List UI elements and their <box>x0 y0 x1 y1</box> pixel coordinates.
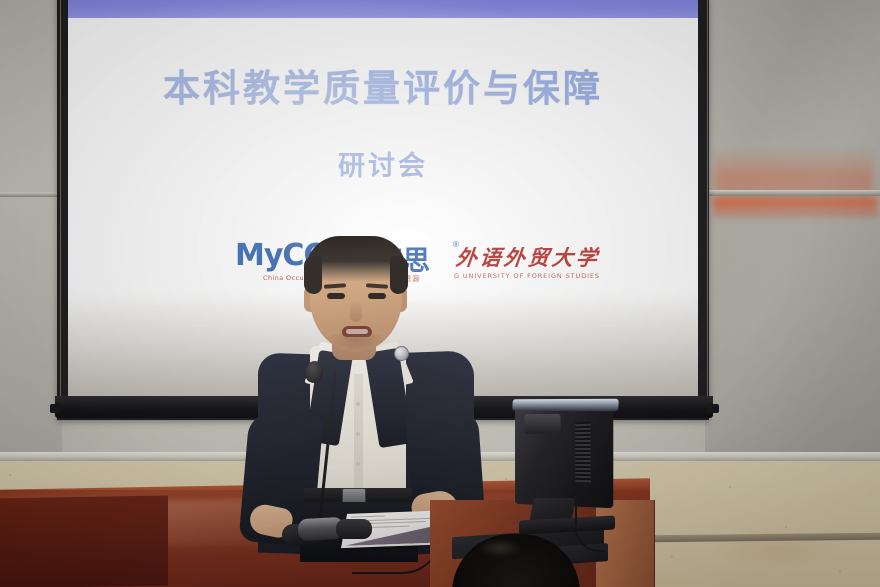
slide-subtitle: 研讨会 <box>68 144 698 183</box>
computer-monitor[interactable] <box>505 398 625 528</box>
desk-left-panel <box>0 495 168 587</box>
monitor-top-edge <box>512 399 619 412</box>
shirt-button <box>356 402 360 406</box>
slide-title: 本科教学质量评价与保障 <box>68 58 698 112</box>
shirt-button <box>356 462 360 466</box>
nose <box>350 300 362 322</box>
monitor-rear-housing <box>524 414 561 434</box>
audience-hair-highlight <box>478 540 522 556</box>
lapel-pin-badge <box>394 346 409 361</box>
left-whiteboard-panel <box>0 0 62 462</box>
hair-side-left <box>304 256 322 294</box>
screen-bar-tip-right <box>707 404 719 413</box>
speaker-person <box>250 234 500 534</box>
shirt-button <box>356 432 360 436</box>
whiteboard-rail <box>0 192 62 197</box>
chin-shadow <box>326 334 386 354</box>
eye-left <box>327 293 345 299</box>
screen-bar-tip-left <box>50 404 60 413</box>
eye-right <box>368 293 386 299</box>
slide-top-band <box>68 0 698 18</box>
hair-side-right <box>390 256 408 294</box>
conference-photo-scene: 本科教学质量评价与保障 研讨会 MyCOS 麦可思 ® China Occupa… <box>0 0 880 587</box>
monitor-vent-grille <box>575 422 590 482</box>
glass-reflection <box>705 0 880 462</box>
